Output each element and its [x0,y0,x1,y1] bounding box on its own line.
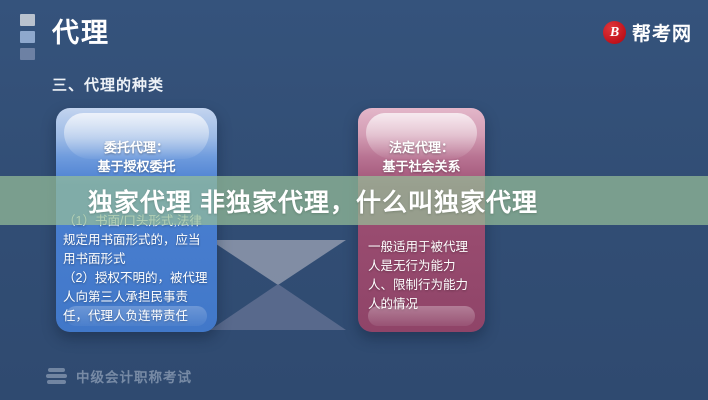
slide-header: 代理 B 帮考网 [0,0,708,66]
card-foot-left [66,306,207,326]
sub-heading: 三、代理的种类 [52,74,164,95]
caption-text: 独家代理 非独家代理，什么叫独家代理 [0,183,538,219]
card-foot-right [368,306,475,326]
brand-name: 帮考网 [632,19,692,46]
stacked-books-icon [46,368,67,384]
brand-mark-letter: B [603,21,626,44]
slide-screenshot: 代理 B 帮考网 三、代理的种类 委托代理： 基于授权委托 （1）书面/口头形式… [0,0,708,400]
card-heading-right-line2: 基于社会关系 [364,157,479,176]
footer-watermark-text: 中级会计职称考试 [76,366,192,386]
three-squares-icon [20,14,35,60]
card-body-right-line1: 一般适用于被代理人是无行为能力人、限制行为能力人的情况 [368,238,475,314]
brand-logo[interactable]: B 帮考网 [603,19,692,46]
card-heading-right-line1: 法定代理： [389,140,454,155]
bowtie-arrows-icon [200,240,350,345]
card-body-right: 一般适用于被代理人是无行为能力人、限制行为能力人的情况 [368,238,475,314]
page-title: 代理 [52,17,110,49]
card-heading-right: 法定代理： 基于社会关系 [358,138,485,176]
bangkao-logo-icon: B [603,21,626,44]
footer-watermark: 中级会计职称考试 [46,366,192,386]
card-heading-left-line1: 委托代理： [104,140,169,155]
card-heading-left-line2: 基于授权委托 [62,157,211,176]
caption-banner: 独家代理 非独家代理，什么叫独家代理 [0,176,708,225]
card-heading-left: 委托代理： 基于授权委托 [56,138,217,176]
